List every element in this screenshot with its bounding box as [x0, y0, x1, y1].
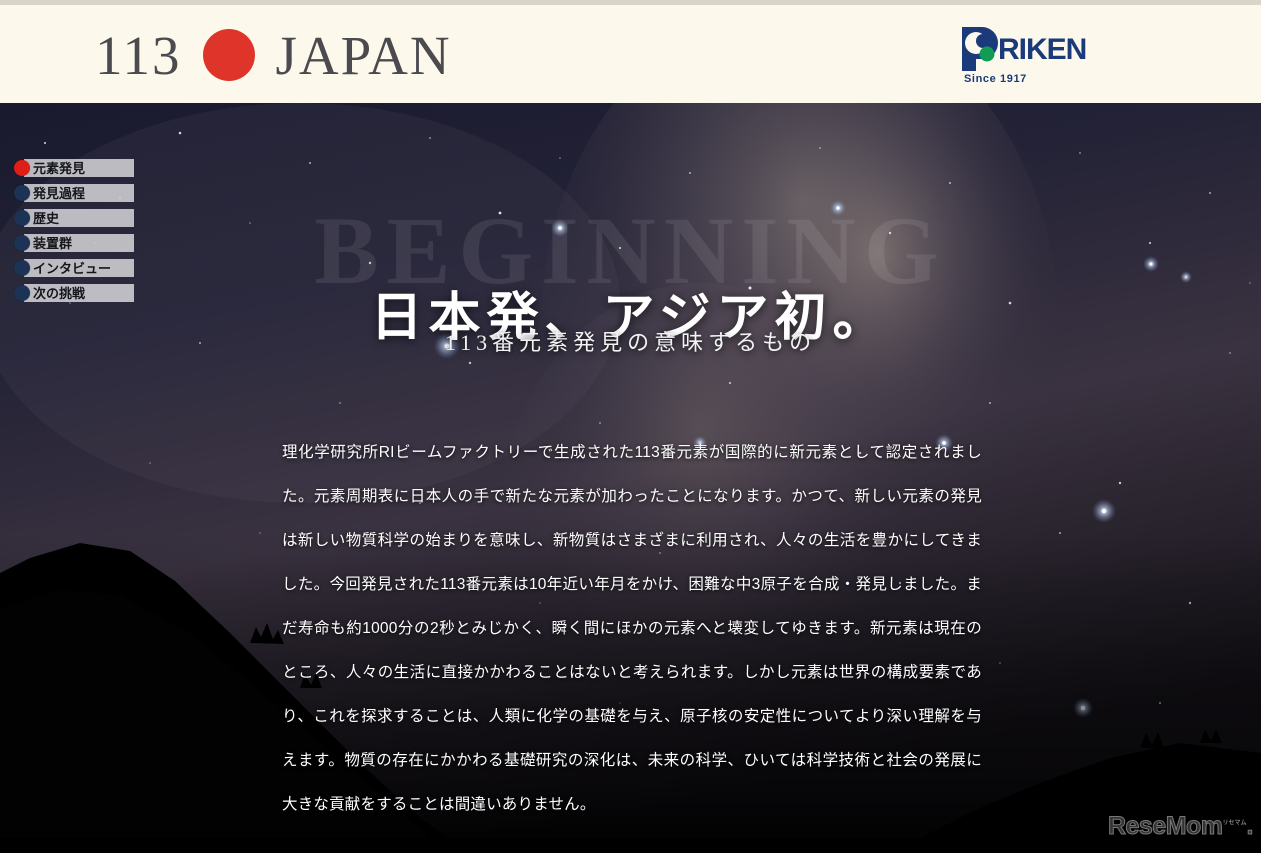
bullet-icon [14, 160, 30, 176]
site-brand[interactable]: 113 JAPAN [95, 22, 452, 88]
hero-body-text: 理化学研究所RIビームファクトリーで生成された113番元素が国際的に新元素として… [282, 431, 982, 827]
resemom-suffix: . [1247, 812, 1253, 840]
bullet-icon [14, 235, 30, 251]
brand-number: 113 [95, 28, 181, 83]
sidebar-item-label: 発見過程 [33, 187, 85, 200]
bullet-icon [14, 210, 30, 226]
riken-logo[interactable]: RIKEN Since 1917 [956, 21, 1126, 93]
hero-section: 元素発見 発見過程 歴史 装置群 インタビュー [0, 103, 1261, 853]
sidebar-item-discovery-process[interactable]: 発見過程 [14, 184, 136, 202]
resemom-watermark: ReseMomリセマム. [1108, 812, 1253, 841]
riken-tagline: Since 1917 [964, 73, 1027, 85]
sidebar-item-history[interactable]: 歴史 [14, 209, 136, 227]
sidebar-item-label: 元素発見 [33, 162, 85, 175]
resemom-brand: ReseMom [1108, 812, 1223, 840]
bullet-icon [14, 285, 30, 301]
brand-word: JAPAN [275, 28, 451, 83]
bullet-icon [14, 185, 30, 201]
bullet-icon [14, 260, 30, 276]
sidebar-nav: 元素発見 発見過程 歴史 装置群 インタビュー [14, 159, 136, 309]
sidebar-item-label: インタビュー [33, 262, 111, 275]
sidebar-item-label: 歴史 [33, 212, 59, 225]
svg-text:RIKEN: RIKEN [998, 33, 1086, 66]
page-root: 113 JAPAN RIKEN Since 1917 [0, 0, 1261, 853]
site-header: 113 JAPAN RIKEN Since 1917 [0, 5, 1261, 104]
sidebar-item-label: 装置群 [33, 237, 72, 250]
japan-flag-circle-icon [203, 29, 255, 81]
sidebar-item-equipment[interactable]: 装置群 [14, 234, 136, 252]
sidebar-item-element-discovery[interactable]: 元素発見 [14, 159, 136, 177]
resemom-tiny-text: リセマム [1223, 821, 1247, 827]
hero-subheadline: 113番元素発見の意味するもの [0, 325, 1261, 357]
sidebar-item-next-challenge[interactable]: 次の挑戦 [14, 284, 136, 302]
sidebar-item-interview[interactable]: インタビュー [14, 259, 136, 277]
sidebar-item-label: 次の挑戦 [33, 287, 85, 300]
